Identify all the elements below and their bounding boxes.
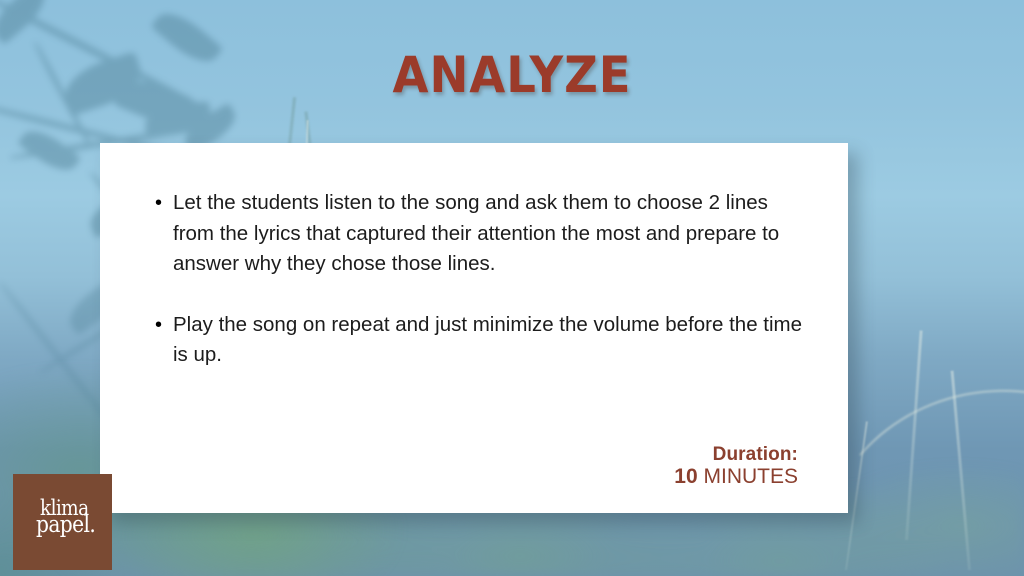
presentation-slide: ANALYZE • Let the students listen to the… (0, 0, 1024, 576)
list-item: • Let the students listen to the song an… (155, 188, 805, 280)
logo-wordmark: klima papel. (32, 498, 94, 546)
content-card: • Let the students listen to the song an… (100, 143, 848, 513)
list-item-text: Let the students listen to the song and … (173, 188, 805, 280)
bullet-point-icon: • (155, 188, 173, 280)
duration-number: 10 (674, 465, 697, 488)
bullet-list: • Let the students listen to the song an… (155, 188, 805, 371)
bullet-point-icon: • (155, 310, 173, 371)
slide-title: ANALYZE (36, 46, 988, 104)
duration-unit: MINUTES (698, 465, 798, 488)
brand-logo: klima papel. (13, 474, 112, 570)
list-item-text: Play the song on repeat and just minimiz… (173, 310, 805, 371)
duration-block: Duration: 10 MINUTES (674, 444, 798, 489)
logo-line-two: papel. (36, 514, 95, 537)
duration-value: 10 MINUTES (674, 465, 798, 489)
list-item: • Play the song on repeat and just minim… (155, 310, 805, 371)
duration-label: Duration: (674, 444, 798, 465)
